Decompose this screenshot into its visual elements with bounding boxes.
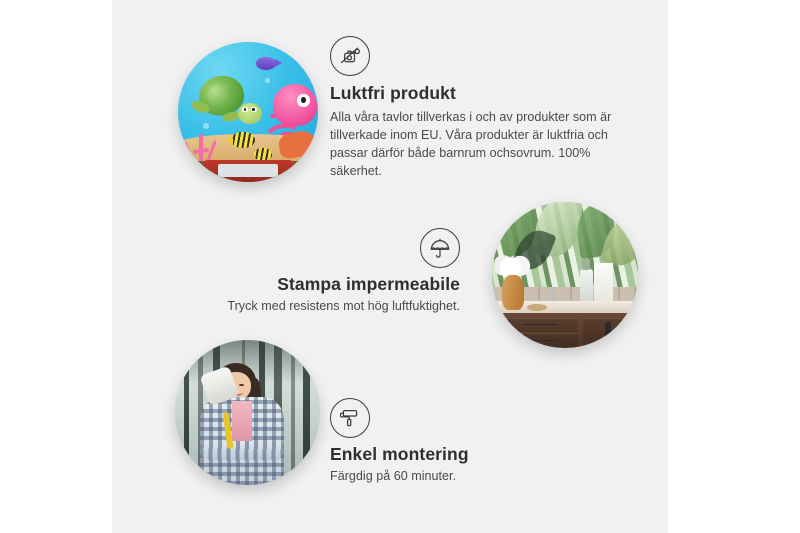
icon-wrapper (330, 398, 560, 438)
vase (502, 275, 524, 310)
photo-bathroom-tropical-wallpaper (492, 202, 638, 348)
feature-title: Enkel montering (330, 444, 560, 465)
photo-woman-with-paint-roller (175, 340, 320, 485)
bubble-icon (265, 78, 270, 83)
feature-description: Färgdig på 60 minuter. (330, 468, 560, 486)
turtle-illustration (193, 76, 257, 126)
woman-figure (198, 363, 288, 485)
no-perfume-icon (330, 36, 370, 76)
fish-purple (256, 57, 276, 70)
vanity-cabinet (501, 313, 638, 348)
feature-title: Stampa impermeabile (220, 274, 460, 295)
feature-title: Luktfri produkt (330, 83, 630, 104)
paint-roller-icon (330, 398, 370, 438)
promo-banner: Luktfri produkt Alla våra tavlor tillver… (0, 0, 800, 533)
red-furniture (203, 160, 293, 182)
feature-description: Alla våra tavlor tillverkas i och av pro… (330, 109, 630, 181)
feature-odor-free: Luktfri produkt Alla våra tavlor tillver… (330, 36, 630, 181)
feature-description: Tryck med resistens mot hög luftfuktighe… (220, 298, 460, 316)
umbrella-icon (420, 228, 460, 268)
feature-easy-mounting: Enkel montering Färgdig på 60 minuter. (330, 398, 560, 486)
feature-waterproof-print: Stampa impermeabile Tryck med resistens … (220, 228, 460, 316)
icon-wrapper (220, 228, 460, 268)
icon-wrapper (330, 36, 630, 76)
photo-ocean-kids-mural (178, 42, 318, 182)
